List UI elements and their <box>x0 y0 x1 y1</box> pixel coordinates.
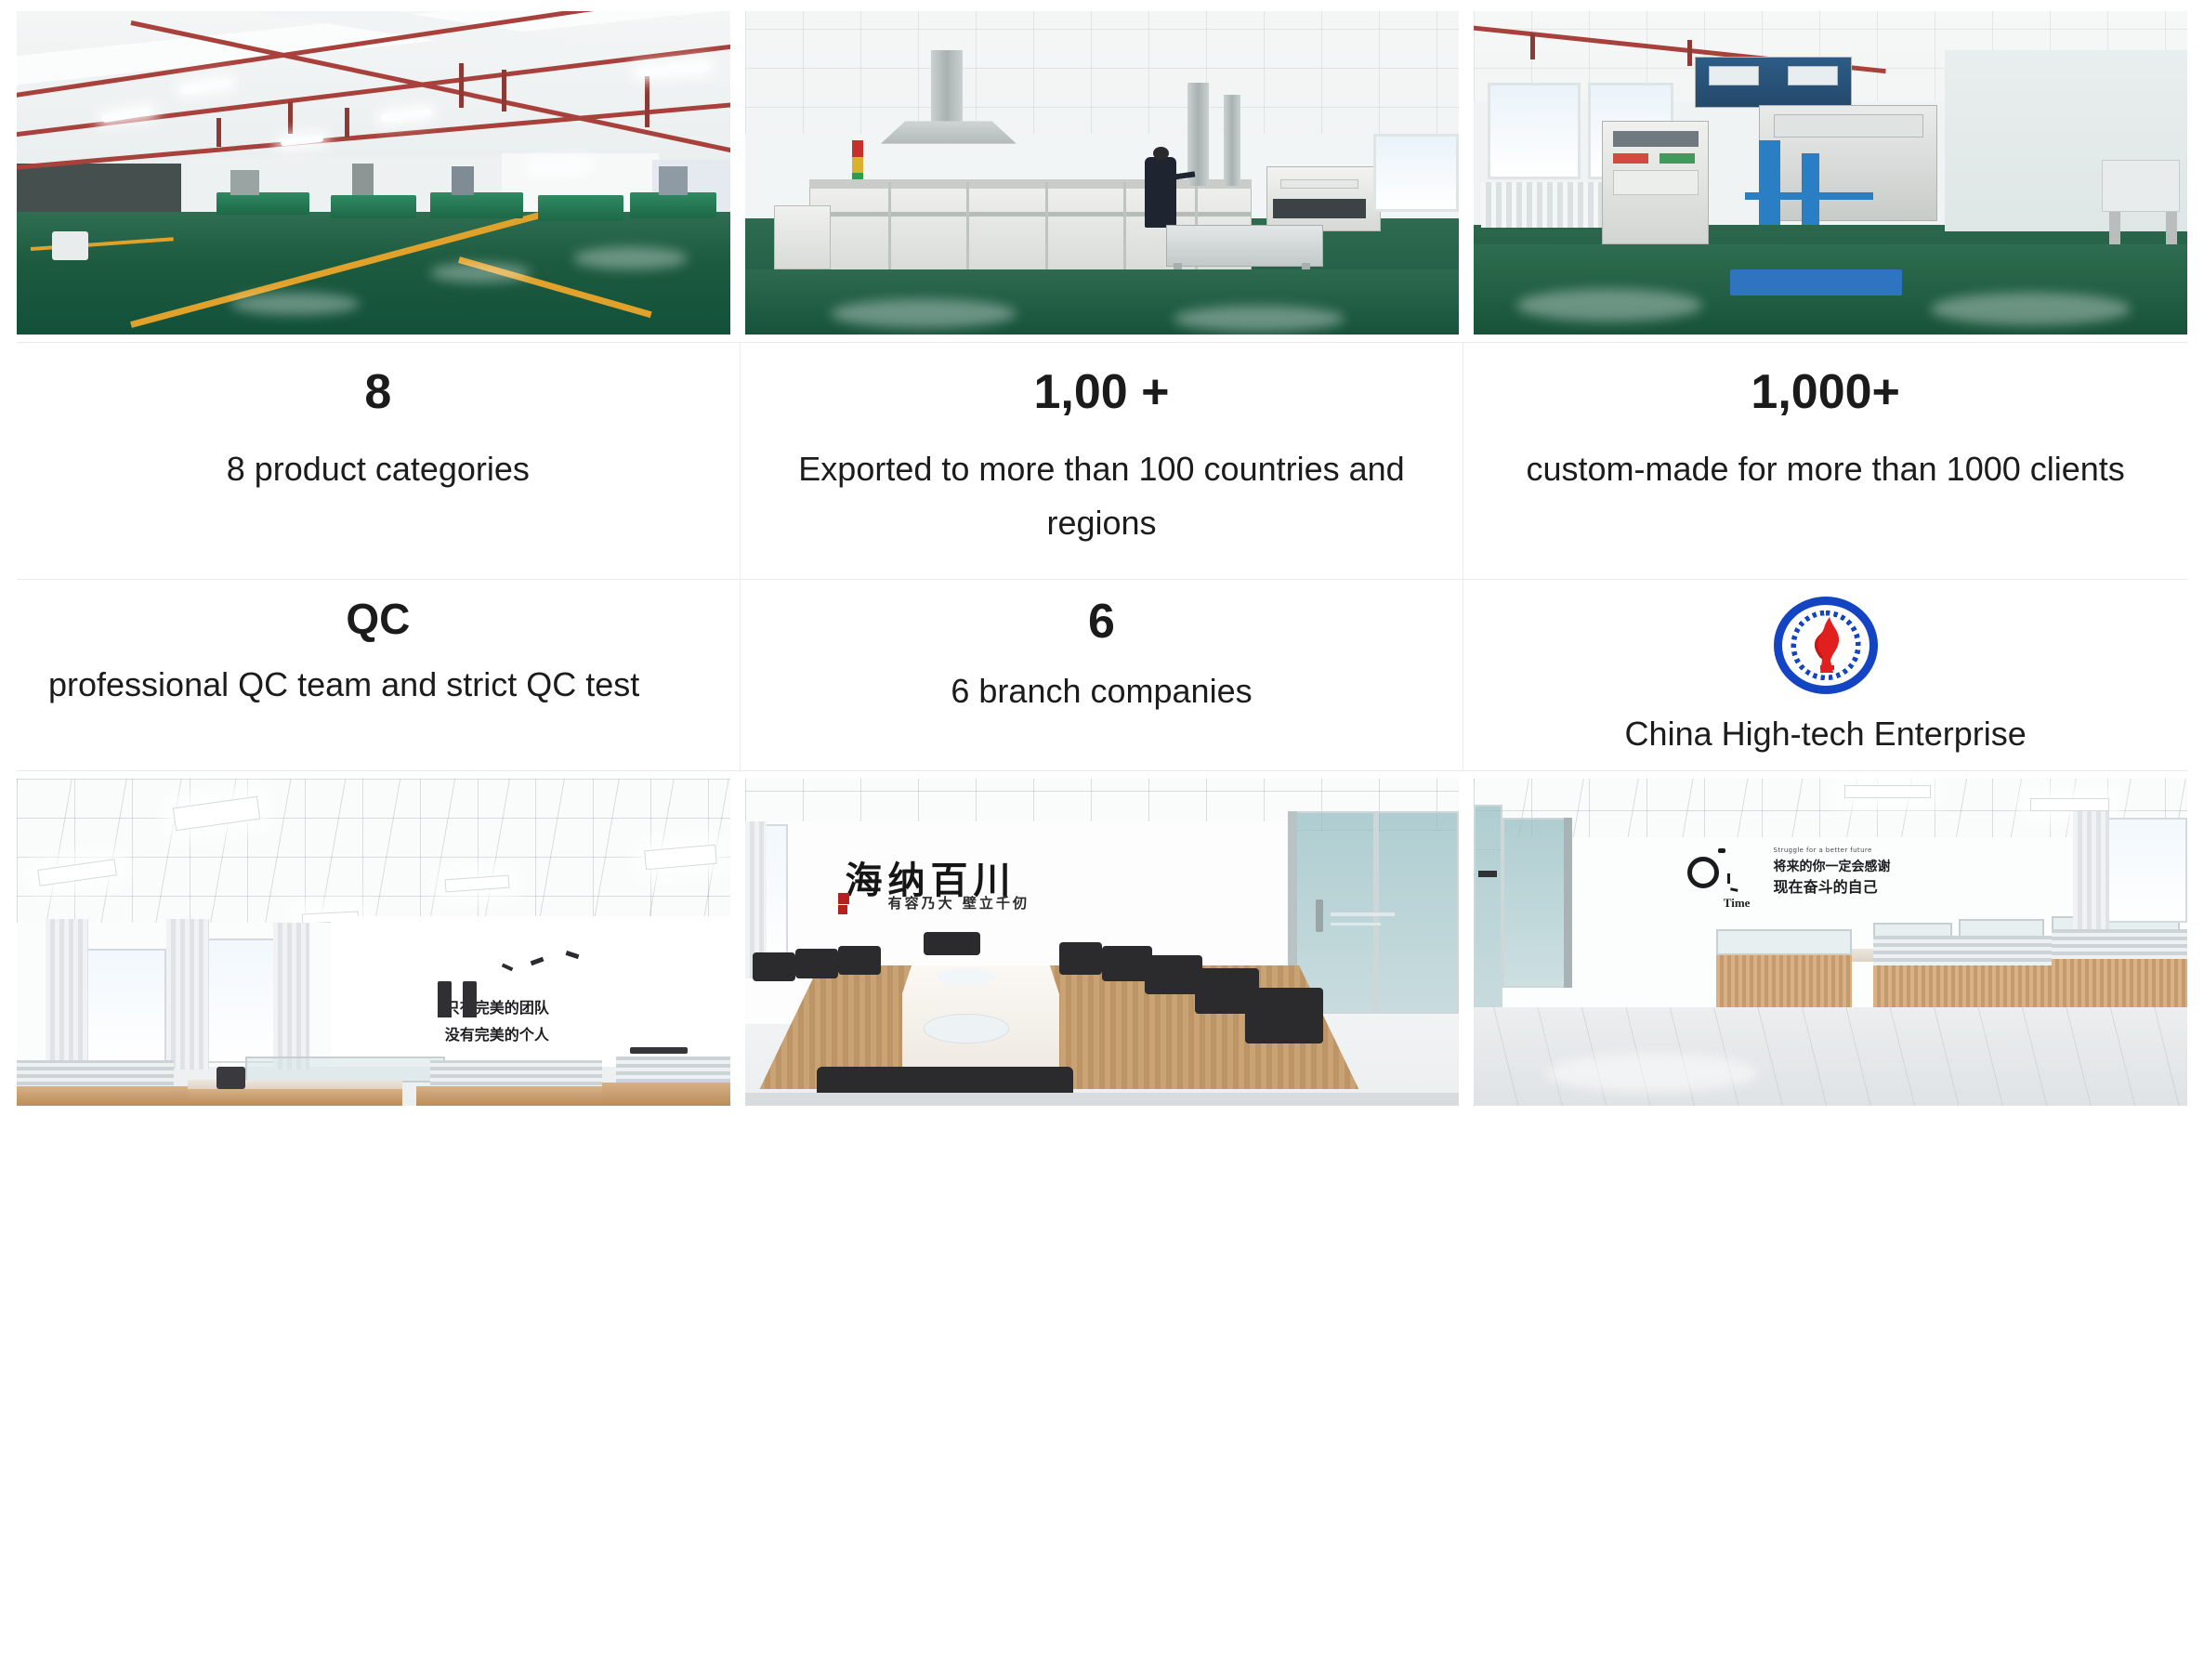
stat-value: QC <box>346 597 410 641</box>
stat-description: custom-made for more than 1000 clients <box>1527 442 2125 496</box>
wall-calligraphy-subtitle: 有容乃大 壁立千仞 <box>888 893 1030 912</box>
bottom-photo-row: 只有完美的团队 没有完美的个人 <box>17 779 2187 1106</box>
stat-description: Exported to more than 100 countries and … <box>772 442 1432 551</box>
photo-production-workshop[interactable] <box>17 11 730 335</box>
photo-open-plan-office[interactable]: 只有完美的团队 没有完美的个人 <box>17 779 730 1106</box>
photo-conference-room[interactable]: 海纳百川 有容乃大 壁立千仞 <box>745 779 1459 1106</box>
stat-cell-export-countries: 1,00 + Exported to more than 100 countri… <box>741 343 1464 580</box>
top-photo-row <box>17 11 2187 335</box>
wall-decal-line-2: 没有完美的个人 <box>445 1028 549 1043</box>
stat-value: 6 <box>1088 597 1115 648</box>
stat-value: 8 <box>364 367 391 418</box>
stat-cell-branch-companies: 6 6 branch companies <box>741 580 1464 770</box>
wall-decal-time-word: Time <box>1724 897 1751 909</box>
stats-table: 8 8 product categories 1,00 + Exported t… <box>17 342 2187 771</box>
stat-cell-quality-control: QC professional QC team and strict QC te… <box>17 580 741 770</box>
stat-cell-product-categories: 8 8 product categories <box>17 343 741 580</box>
wall-decal-line-1: 只有完美的团队 <box>445 1001 549 1016</box>
photo-control-cabinet-equipment[interactable] <box>1474 11 2187 335</box>
stat-value: 1,000+ <box>1751 367 1900 418</box>
wall-decal-line-1: 将来的你一定会感谢 <box>1774 860 1891 873</box>
stat-value: 1,00 + <box>1033 367 1169 418</box>
wall-decal-line-2: 现在奋斗的自己 <box>1774 880 1878 895</box>
wall-decal-english: Struggle for a better future <box>1774 847 1872 854</box>
stat-cell-custom-clients: 1,000+ custom-made for more than 1000 cl… <box>1463 343 2187 580</box>
photo-office-cubicles[interactable]: Struggle for a better future 将来的你一定会感谢 现… <box>1474 779 2187 1106</box>
stat-description: 8 product categories <box>227 442 530 496</box>
stat-description: China High-tech Enterprise <box>1625 707 2027 761</box>
photo-reflow-oven-line[interactable] <box>745 11 1459 335</box>
stat-description: 6 branch companies <box>951 664 1252 718</box>
stat-description: professional QC team and strict QC test <box>48 658 708 712</box>
stat-cell-high-tech-certification: China High-tech Enterprise <box>1463 580 2187 770</box>
china-high-tech-logo-icon <box>1774 597 1878 694</box>
facilities-overview-page: 8 8 product categories 1,00 + Exported t… <box>0 0 2204 1680</box>
